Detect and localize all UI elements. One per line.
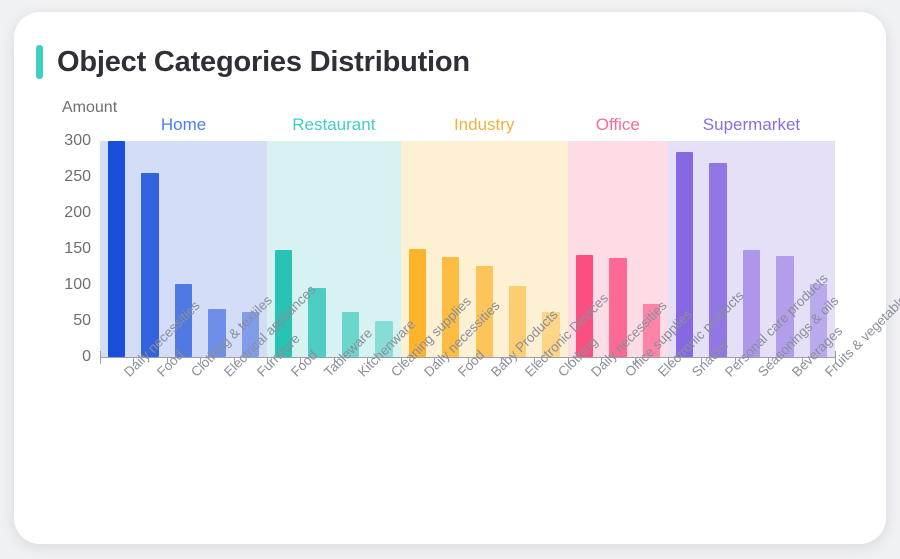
y-axis-tick-label: 50: [73, 312, 91, 330]
bar: [108, 141, 125, 357]
group-label-home: Home: [161, 115, 206, 135]
y-axis-title: Amount: [62, 99, 117, 117]
group-label-office: Office: [596, 115, 640, 135]
page-title: Object Categories Distribution: [57, 46, 470, 79]
group-label-industry: Industry: [454, 115, 514, 135]
y-axis-tick-label: 300: [64, 132, 91, 150]
group-label-supermarket: Supermarket: [703, 115, 800, 135]
y-axis-tick-label: 150: [64, 240, 91, 258]
x-axis-tick-mark: [100, 357, 101, 364]
title-row: Object Categories Distribution: [36, 45, 470, 79]
bar: [141, 173, 158, 357]
chart-card: Object Categories Distribution Amount 05…: [14, 12, 886, 544]
plot-area: 050100150200250300 HomeRestaurantIndustr…: [100, 141, 835, 357]
y-axis-tick-label: 250: [64, 168, 91, 186]
group-label-restaurant: Restaurant: [292, 115, 375, 135]
y-axis-tick-label: 200: [64, 204, 91, 222]
y-axis-tick-label: 100: [64, 276, 91, 294]
y-axis-tick-label: 0: [82, 348, 91, 366]
title-accent-bar: [36, 45, 43, 79]
